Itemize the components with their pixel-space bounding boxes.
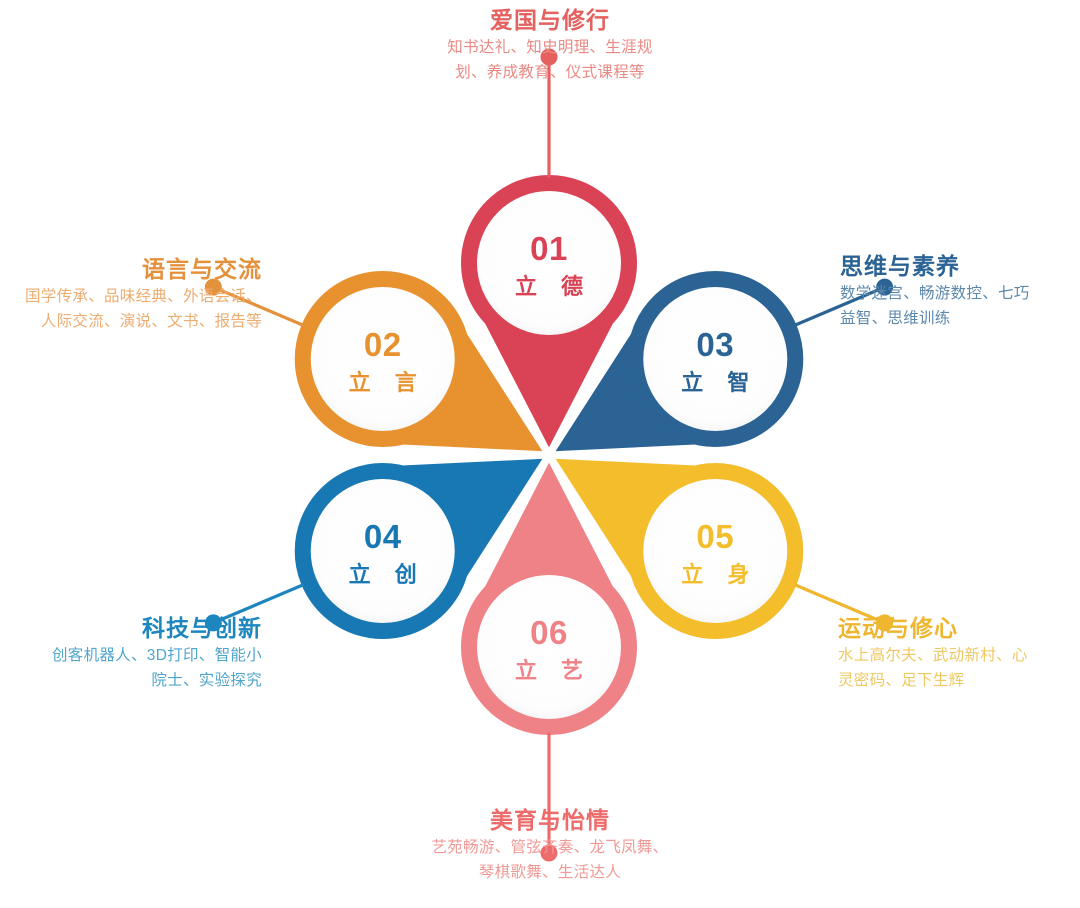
callout-desc: 数学迷宫、畅游数控、七巧 益智、思维训练 [840,281,1080,331]
callout-desc: 水上高尔夫、武动新村、心 灵密码、足下生辉 [838,643,1080,693]
petal-inner-disc [477,191,621,335]
callout-desc-line: 院士、实验探究 [0,668,262,693]
callout-desc-line: 划、养成教育、仪式课程等 [370,60,730,85]
callout-desc-line: 国学传承、品味经典、外语会话、 [0,284,262,309]
callout-siwei-yu-suyang[interactable]: 思维与素养 数学迷宫、畅游数控、七巧 益智、思维训练 [840,252,1080,331]
callout-desc-line: 益智、思维训练 [840,306,1080,331]
callout-desc: 艺苑畅游、管弦齐奏、龙飞凤舞、 琴棋歌舞、生活达人 [370,835,730,885]
petal-inner-disc [643,479,787,623]
callout-title: 思维与素养 [840,252,1080,281]
callout-title: 运动与修心 [838,614,1080,643]
callout-title: 语言与交流 [0,255,262,284]
callout-desc-line: 数学迷宫、畅游数控、七巧 [840,281,1080,306]
callout-title: 爱国与修行 [370,6,730,35]
callout-desc: 国学传承、品味经典、外语会话、 人际交流、演说、文书、报告等 [0,284,262,334]
callout-desc-line: 创客机器人、3D打印、智能小 [0,643,262,668]
callout-meiyu-yu-yiqing[interactable]: 美育与怡情 艺苑畅游、管弦齐奏、龙飞凤舞、 琴棋歌舞、生活达人 [370,806,730,885]
diagram-canvas: 01 立 德 02 立 言 03 立 智 04 立 创 05 立 身 06 立 … [0,0,1080,908]
callout-title: 美育与怡情 [370,806,730,835]
callout-desc-line: 灵密码、足下生辉 [838,668,1080,693]
callout-desc: 知书达礼、知史明理、生涯规 划、养成教育、仪式课程等 [370,35,730,85]
callout-yundong-yu-xiuxin[interactable]: 运动与修心 水上高尔夫、武动新村、心 灵密码、足下生辉 [838,614,1080,693]
callout-keji-yu-chuangxin[interactable]: 科技与创新 创客机器人、3D打印、智能小 院士、实验探究 [0,614,262,693]
callout-yuyan-yu-jiaoliu[interactable]: 语言与交流 国学传承、品味经典、外语会话、 人际交流、演说、文书、报告等 [0,255,262,334]
petal-inner-disc [311,479,455,623]
flower-diagram [0,0,1080,908]
callout-desc-line: 艺苑畅游、管弦齐奏、龙飞凤舞、 [370,835,730,860]
callout-desc-line: 琴棋歌舞、生活达人 [370,860,730,885]
callout-desc: 创客机器人、3D打印、智能小 院士、实验探究 [0,643,262,693]
callout-aiguo-yu-xiuxing[interactable]: 爱国与修行 知书达礼、知史明理、生涯规 划、养成教育、仪式课程等 [370,6,730,85]
callout-desc-line: 知书达礼、知史明理、生涯规 [370,35,730,60]
petal-inner-disc [643,287,787,431]
callout-desc-line: 人际交流、演说、文书、报告等 [0,309,262,334]
callout-desc-line: 水上高尔夫、武动新村、心 [838,643,1080,668]
petal-inner-disc [477,575,621,719]
petal-inner-disc [311,287,455,431]
callout-title: 科技与创新 [0,614,262,643]
